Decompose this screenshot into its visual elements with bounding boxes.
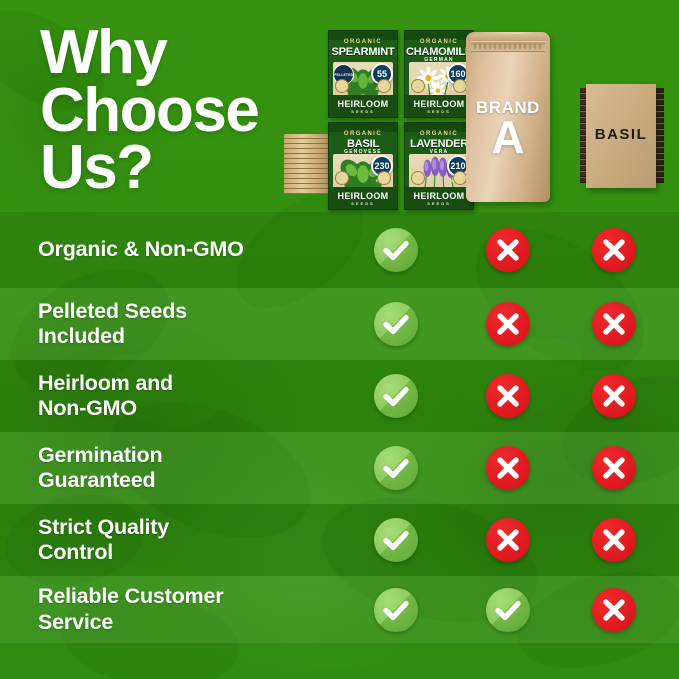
- table-row: Organic & Non-GMO: [0, 212, 679, 288]
- packet-seal-non-gmo: [377, 79, 391, 93]
- packet-seal-non-gmo: [377, 171, 391, 185]
- packet-seal-non-gmo: [453, 79, 467, 93]
- packet-seed-count: 230: [374, 161, 389, 171]
- seed-packet-spearmint[interactable]: ORGANIC SPEARMINT: [328, 30, 398, 118]
- feature-label-line-1: Germination: [38, 443, 340, 468]
- feature-label-line-2: Service: [38, 610, 340, 635]
- feature-label: Reliable Customer Service: [0, 584, 340, 635]
- feature-label-line-1: Heirloom and: [38, 371, 340, 396]
- cell-brand-a: [452, 446, 564, 490]
- packet-seal-usda: [411, 79, 425, 93]
- packet-seal-usda: [411, 171, 425, 185]
- cross-icon: [486, 302, 530, 346]
- feature-label-line-1: Pelleted Seeds: [38, 299, 340, 324]
- cell-generic: [564, 588, 664, 632]
- feature-label-line-2: Included: [38, 324, 340, 349]
- comparison-infographic: Why Choose Us? ORGANIC SPEARMINT: [0, 0, 679, 679]
- brand-a-pouch[interactable]: BRAND A: [466, 32, 550, 202]
- cell-ours: [340, 228, 452, 272]
- cross-icon: [592, 374, 636, 418]
- check-icon: [486, 588, 530, 632]
- cross-icon: [486, 518, 530, 562]
- table-row: Strict Quality Control: [0, 504, 679, 576]
- packet-heirloom-text: HEIRLOOM: [338, 99, 389, 109]
- product-images: ORGANIC SPEARMINT: [276, 22, 676, 217]
- packet-organic-label: ORGANIC: [405, 39, 473, 45]
- cell-brand-a: [452, 374, 564, 418]
- feature-label: Strict Quality Control: [0, 515, 340, 566]
- feature-label-line-1: Strict Quality: [38, 515, 340, 540]
- table-row: Heirloom and Non-GMO: [0, 360, 679, 432]
- pouch-brand-letter: A: [466, 114, 550, 160]
- packet-heirloom-label: HEIRLOOM SEEDS: [329, 191, 397, 206]
- feature-label: Pelleted Seeds Included: [0, 299, 340, 350]
- check-icon: [374, 302, 418, 346]
- packet-heirloom-label: HEIRLOOM SEEDS: [405, 99, 473, 114]
- cross-icon: [592, 446, 636, 490]
- cross-icon: [592, 302, 636, 346]
- generic-envelope: BASIL: [586, 84, 656, 188]
- cross-icon: [486, 228, 530, 272]
- packet-seed-count: 160: [450, 69, 465, 79]
- packet-heirloom-label: HEIRLOOM SEEDS: [329, 99, 397, 114]
- cell-brand-a: [452, 518, 564, 562]
- feature-label-line-1: Reliable Customer: [38, 584, 340, 609]
- packet-seed-count: 55: [377, 69, 387, 79]
- cell-brand-a: [452, 588, 564, 632]
- packet-heirloom-sub: SEEDS: [329, 109, 397, 114]
- check-icon: [374, 446, 418, 490]
- packet-seed-count: 210: [450, 161, 465, 171]
- cross-icon: [592, 228, 636, 272]
- feature-label: Germination Guaranteed: [0, 443, 340, 494]
- check-icon: [374, 228, 418, 272]
- pouch-zip-seal: [471, 41, 545, 52]
- packet-seal-usda: [335, 171, 349, 185]
- cell-generic: [564, 518, 664, 562]
- cross-icon: [592, 588, 636, 632]
- packet-heirloom-text: HEIRLOOM: [414, 99, 465, 109]
- packet-heirloom-sub: SEEDS: [405, 109, 473, 114]
- feature-label: Organic & Non-GMO: [0, 237, 340, 262]
- cell-ours: [340, 374, 452, 418]
- seed-packet-chamomile[interactable]: ORGANIC CHAMOMILE GERMAN: [404, 30, 474, 118]
- seed-packet-lavender[interactable]: ORGANIC LAVENDER VERA: [404, 122, 474, 210]
- cross-icon: [592, 518, 636, 562]
- generic-basil-packet[interactable]: BASIL: [574, 84, 670, 190]
- packet-organic-label: ORGANIC: [329, 131, 397, 137]
- cell-brand-a: [452, 228, 564, 272]
- seed-packet-basil[interactable]: ORGANIC BASIL GENOVESE: [328, 122, 398, 210]
- cell-ours: [340, 446, 452, 490]
- check-icon: [374, 588, 418, 632]
- cross-icon: [486, 446, 530, 490]
- seed-packet-grid: ORGANIC SPEARMINT: [328, 30, 476, 210]
- table-row: Reliable Customer Service: [0, 576, 679, 643]
- cell-ours: [340, 518, 452, 562]
- packet-heirloom-sub: SEEDS: [405, 201, 473, 206]
- table-row: Pelleted Seeds Included: [0, 288, 679, 360]
- check-icon: [374, 518, 418, 562]
- feature-label-line-2: Guaranteed: [38, 468, 340, 493]
- packet-name: SPEARMINT: [329, 46, 397, 58]
- packet-seal-usda: [335, 79, 349, 93]
- feature-label: Heirloom and Non-GMO: [0, 371, 340, 422]
- feature-label-line-2: Non-GMO: [38, 396, 340, 421]
- packet-seal-non-gmo: [453, 171, 467, 185]
- table-row: Germination Guaranteed: [0, 432, 679, 504]
- packet-heirloom-text: HEIRLOOM: [414, 191, 465, 201]
- feature-label-line-1: Organic & Non-GMO: [38, 237, 340, 262]
- cell-brand-a: [452, 302, 564, 346]
- packet-heirloom-sub: SEEDS: [329, 201, 397, 206]
- cell-ours: [340, 588, 452, 632]
- cell-ours: [340, 302, 452, 346]
- cell-generic: [564, 228, 664, 272]
- packet-organic-label: ORGANIC: [405, 131, 473, 137]
- cell-generic: [564, 302, 664, 346]
- cell-generic: [564, 374, 664, 418]
- cell-generic: [564, 446, 664, 490]
- comparison-table: Organic & Non-GMO Pelleted Seeds: [0, 212, 679, 643]
- feature-label-line-2: Control: [38, 540, 340, 565]
- packet-heirloom-label: HEIRLOOM SEEDS: [405, 191, 473, 206]
- packet-organic-label: ORGANIC: [329, 39, 397, 45]
- cross-icon: [486, 374, 530, 418]
- generic-envelope-label: BASIL: [586, 126, 656, 143]
- packet-heirloom-text: HEIRLOOM: [338, 191, 389, 201]
- seed-packet-stack-left: [284, 134, 332, 196]
- pouch-lip: [469, 34, 547, 41]
- check-icon: [374, 374, 418, 418]
